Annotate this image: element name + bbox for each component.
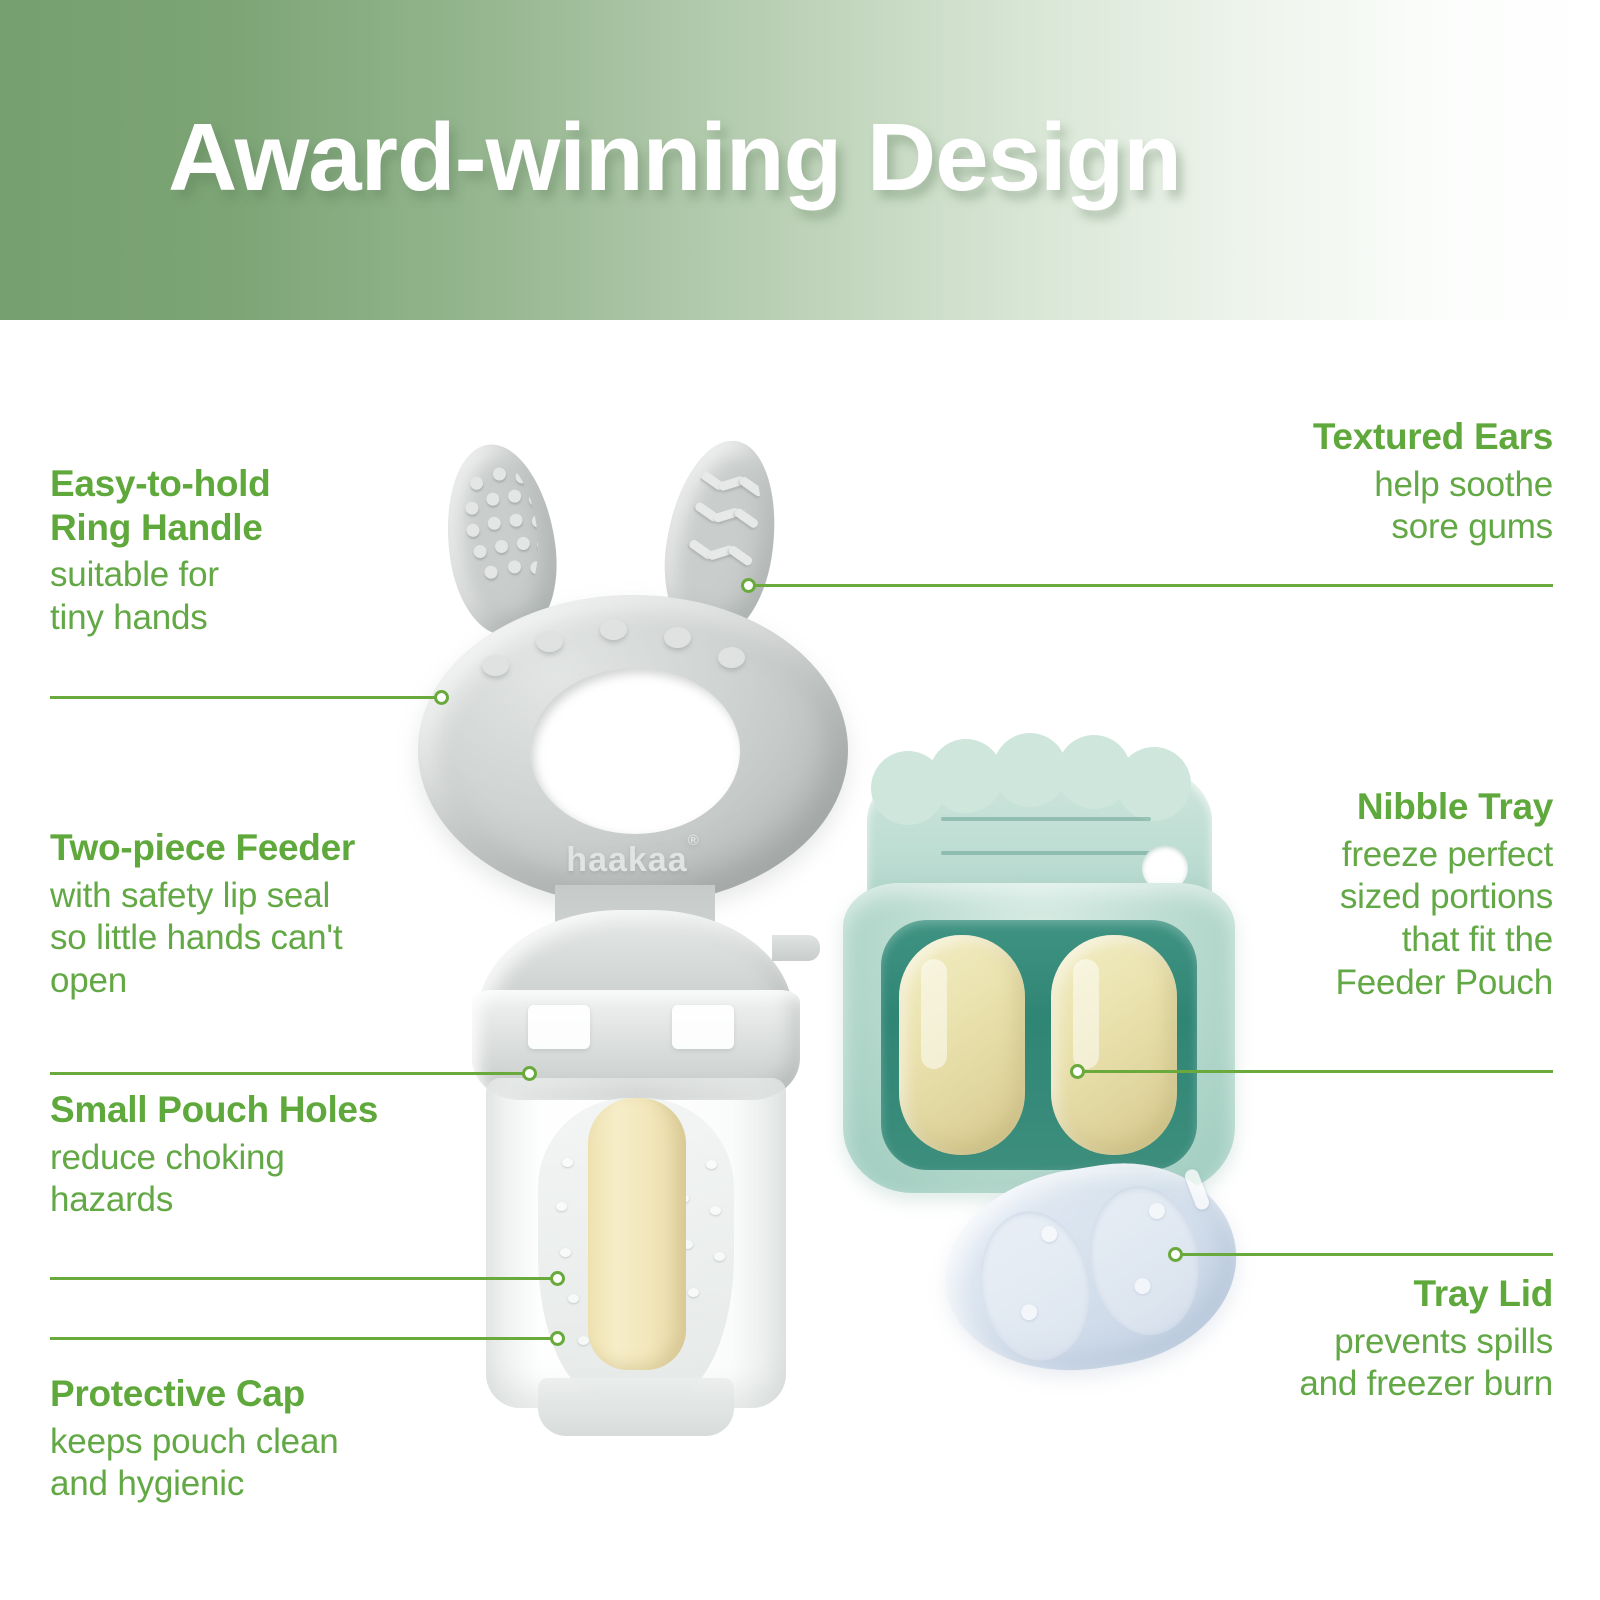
ring-handle-hole: [530, 668, 740, 834]
callout-body-protective-cap: keeps pouch clean and hygienic: [50, 1421, 500, 1506]
callout-two-piece-feeder: Two-piece Feeder with safety lip seal so…: [50, 826, 500, 1003]
connector-dot-small-pouch-holes: [550, 1271, 565, 1286]
frozen-portion-pod-left: [899, 935, 1025, 1155]
callout-title-two-piece-feeder: Two-piece Feeder: [50, 826, 500, 870]
connector-line-tray-lid: [1180, 1253, 1553, 1256]
connector-dot-textured-ears: [741, 578, 756, 593]
callout-nibble-tray: Nibble Tray freeze perfect sized portion…: [1093, 785, 1553, 1004]
callout-ring-handle: Easy-to-hold Ring Handle suitable for ti…: [50, 462, 480, 640]
connector-dot-two-piece-feeder: [522, 1066, 537, 1081]
callout-body-tray-lid: prevents spills and freezer burn: [1093, 1321, 1553, 1406]
connector-line-two-piece-feeder: [50, 1072, 528, 1075]
callout-title-tray-lid: Tray Lid: [1093, 1272, 1553, 1316]
callout-body-textured-ears: help soothe sore gums: [1093, 464, 1553, 549]
callout-title-ring-handle: Easy-to-hold Ring Handle: [50, 462, 480, 549]
infographic-canvas: Award-winning Design: [0, 0, 1600, 1600]
tray-lid-nub: [1183, 1167, 1211, 1211]
brand-name: haakaa: [566, 841, 687, 879]
connector-line-protective-cap: [50, 1337, 556, 1340]
callout-body-ring-handle: suitable for tiny hands: [50, 554, 480, 639]
connector-dot-nibble-tray: [1070, 1064, 1085, 1079]
cap-side-tab: [772, 935, 820, 961]
connector-line-nibble-tray: [1082, 1070, 1553, 1073]
callout-textured-ears: Textured Ears help soothe sore gums: [1093, 415, 1553, 549]
connector-dot-protective-cap: [550, 1331, 565, 1346]
callout-small-pouch-holes: Small Pouch Holes reduce choking hazards: [50, 1088, 500, 1222]
connector-line-textured-ears: [753, 584, 1553, 587]
callout-protective-cap: Protective Cap keeps pouch clean and hyg…: [50, 1372, 500, 1506]
callout-title-nibble-tray: Nibble Tray: [1093, 785, 1553, 829]
collar-clip-right: [672, 1005, 734, 1049]
connector-line-small-pouch-holes: [50, 1277, 556, 1280]
food-puree-portion: [588, 1098, 686, 1370]
callout-tray-lid: Tray Lid prevents spills and freezer bur…: [1093, 1272, 1553, 1406]
page-title: Award-winning Design: [168, 108, 1181, 209]
callout-body-two-piece-feeder: with safety lip seal so little hands can…: [50, 875, 500, 1003]
connector-line-ring-handle: [50, 696, 440, 699]
connector-dot-ring-handle: [434, 690, 449, 705]
registered-mark: ®: [688, 832, 700, 849]
callout-body-nibble-tray: freeze perfect sized portions that fit t…: [1093, 834, 1553, 1005]
callout-title-protective-cap: Protective Cap: [50, 1372, 500, 1416]
connector-dot-tray-lid: [1168, 1247, 1183, 1262]
feeder-pouch-foot: [538, 1378, 734, 1436]
callout-title-small-pouch-holes: Small Pouch Holes: [50, 1088, 500, 1132]
callout-title-textured-ears: Textured Ears: [1093, 415, 1553, 459]
callout-body-small-pouch-holes: reduce choking hazards: [50, 1137, 500, 1222]
collar-clip-left: [528, 1005, 590, 1049]
